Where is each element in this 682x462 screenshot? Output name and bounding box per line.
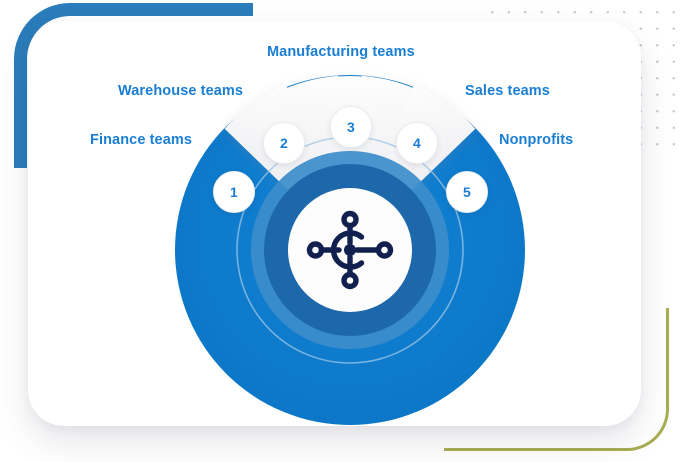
node-circle-1[interactable]: 1 xyxy=(213,171,255,213)
label-warehouse-teams: Warehouse teams xyxy=(118,83,243,99)
node-number-5: 5 xyxy=(463,184,471,200)
node-number-2: 2 xyxy=(280,135,288,151)
node-number-3: 3 xyxy=(347,119,355,135)
label-manufacturing-teams: Manufacturing teams xyxy=(267,44,415,60)
infographic-stage: 1 2 3 4 5 Finance teams Warehouse teams … xyxy=(0,0,682,462)
node-circle-2[interactable]: 2 xyxy=(263,122,305,164)
node-number-4: 4 xyxy=(413,135,421,151)
content-card: 1 2 3 4 5 Finance teams Warehouse teams … xyxy=(28,21,641,426)
label-nonprofits: Nonprofits xyxy=(499,132,573,148)
radial-diagram: 1 2 3 4 5 Finance teams Warehouse teams … xyxy=(28,21,641,426)
node-circle-5[interactable]: 5 xyxy=(446,171,488,213)
node-circle-3[interactable]: 3 xyxy=(330,106,372,148)
label-sales-teams: Sales teams xyxy=(465,83,550,99)
node-circle-4[interactable]: 4 xyxy=(396,122,438,164)
label-finance-teams: Finance teams xyxy=(90,132,192,148)
node-number-1: 1 xyxy=(230,184,238,200)
